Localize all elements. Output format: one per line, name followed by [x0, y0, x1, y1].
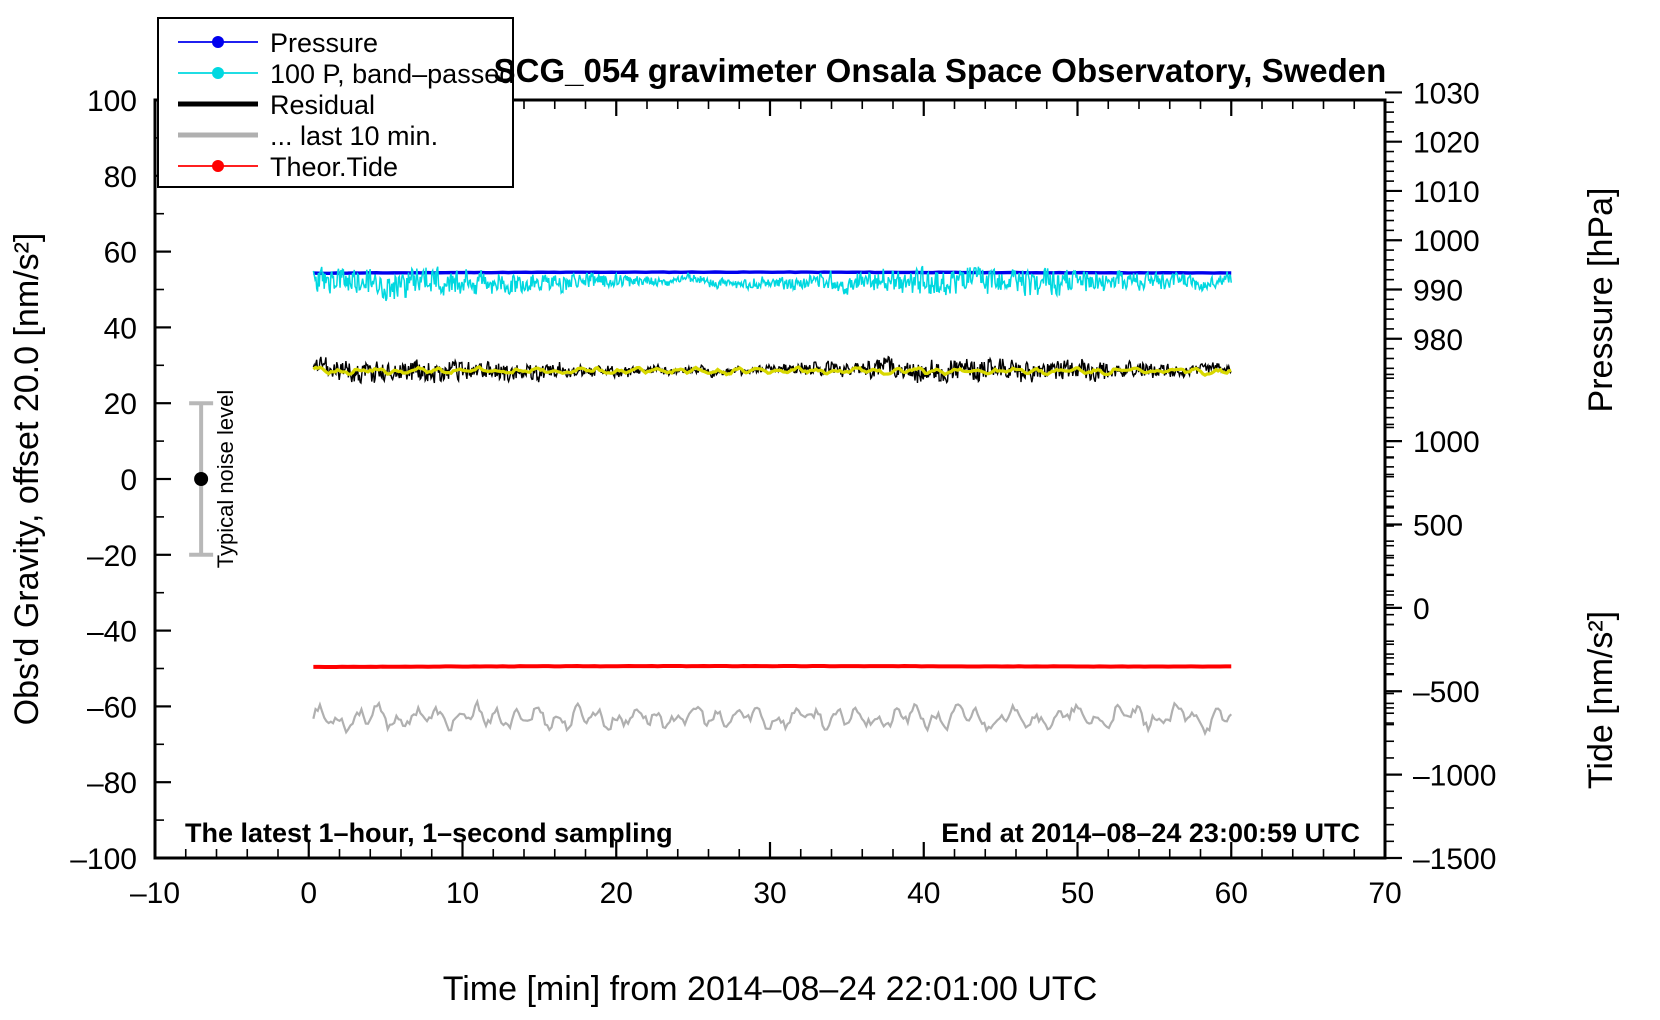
tide-tick-label: –500 [1413, 676, 1480, 709]
tide-axis-title: Tide [nm/s²] [1582, 611, 1620, 789]
legend-item-label: ... last 10 min. [270, 121, 438, 151]
legend-swatch-dot [212, 160, 224, 172]
y-tick-label: –80 [87, 767, 137, 800]
legend-swatch-dot [212, 67, 224, 79]
y-tick-label: –20 [87, 540, 137, 573]
x-tick-label: 60 [1215, 877, 1248, 910]
series-line-4 [313, 666, 1231, 667]
tide-tick-label: –1500 [1413, 843, 1496, 876]
tide-tick-label: 500 [1413, 509, 1463, 542]
chart-page: –10010203040506070Time [min] from 2014–0… [0, 0, 1660, 1020]
pressure-axis-title: Pressure [hPa] [1582, 188, 1620, 413]
y-tick-label: 80 [104, 161, 137, 194]
series-line-0 [313, 272, 1231, 273]
annotation-bottom-right: End at 2014–08–24 23:00:59 UTC [941, 818, 1360, 848]
y-tick-label: 20 [104, 388, 137, 421]
tide-tick-label: –1000 [1413, 760, 1496, 793]
x-axis-title: Time [min] from 2014–08–24 22:01:00 UTC [443, 970, 1098, 1008]
tide-tick-label: 1000 [1413, 426, 1480, 459]
x-tick-label: –10 [130, 877, 180, 910]
legend-item-label: Pressure [270, 28, 378, 58]
x-tick-label: 50 [1061, 877, 1094, 910]
y-tick-label: 60 [104, 237, 137, 270]
x-tick-label: 10 [446, 877, 479, 910]
x-tick-label: 70 [1368, 877, 1401, 910]
pressure-tick-label: 1000 [1413, 225, 1480, 258]
noise-center-dot [194, 472, 208, 486]
legend-item-label: 100 P, band–passed [270, 59, 514, 89]
tide-tick-label: 0 [1413, 593, 1430, 626]
annotation-bottom-left: The latest 1–hour, 1–second sampling [185, 818, 673, 848]
y-axis-title: Obs'd Gravity, offset 20.0 [nm/s²] [8, 233, 46, 726]
y-tick-label: 100 [87, 85, 137, 118]
pressure-tick-label: 1010 [1413, 176, 1480, 209]
y-tick-label: 40 [104, 312, 137, 345]
x-tick-label: 20 [600, 877, 633, 910]
x-tick-label: 30 [753, 877, 786, 910]
x-tick-label: 0 [300, 877, 317, 910]
chart-title: SCG_054 gravimeter Onsala Space Observat… [494, 52, 1387, 89]
y-tick-label: –100 [70, 843, 137, 876]
pressure-tick-label: 1020 [1413, 127, 1480, 160]
pressure-tick-label: 990 [1413, 275, 1463, 308]
y-tick-label: 0 [120, 464, 137, 497]
pressure-tick-label: 980 [1413, 324, 1463, 357]
chart-legend: Pressure100 P, band–passedResidual... la… [158, 18, 514, 187]
legend-item-label: Theor.Tide [270, 152, 398, 182]
noise-marker-label: Typical noise level [213, 390, 238, 569]
legend-swatch-dot [212, 36, 224, 48]
gravimeter-chart: –10010203040506070Time [min] from 2014–0… [0, 0, 1660, 1020]
pressure-tick-label: 1030 [1413, 77, 1480, 110]
y-tick-label: –60 [87, 691, 137, 724]
x-tick-label: 40 [907, 877, 940, 910]
legend-item-label: Residual [270, 90, 375, 120]
y-tick-label: –40 [87, 616, 137, 649]
